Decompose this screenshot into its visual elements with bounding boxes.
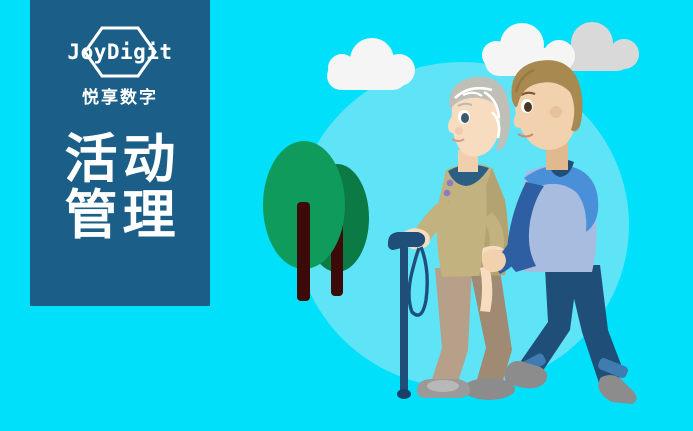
brand-wordmark: JoyDigit: [67, 42, 172, 63]
woman-button: [447, 180, 454, 187]
cane-tip: [397, 389, 411, 399]
brand-logo: JoyDigit: [50, 26, 190, 78]
woman-eye: [461, 113, 469, 123]
brand-subtitle: 悦享数字: [82, 89, 158, 106]
page-title-line-1: 活动: [60, 132, 181, 188]
man-ear: [550, 106, 562, 118]
woman-button: [444, 190, 451, 197]
poster-canvas: JoyDigit 悦享数字 活动 管理: [0, 0, 693, 431]
page-title: 活动 管理: [60, 132, 181, 244]
man-hand: [482, 249, 506, 272]
man-eye: [524, 102, 532, 112]
cane-shaft: [400, 245, 408, 393]
woman-cheek: [455, 127, 463, 135]
title-panel: JoyDigit 悦享数字 活动 管理: [30, 0, 210, 306]
woman-shoe-highlight: [427, 380, 459, 392]
page-title-line-2: 管理: [60, 188, 181, 244]
